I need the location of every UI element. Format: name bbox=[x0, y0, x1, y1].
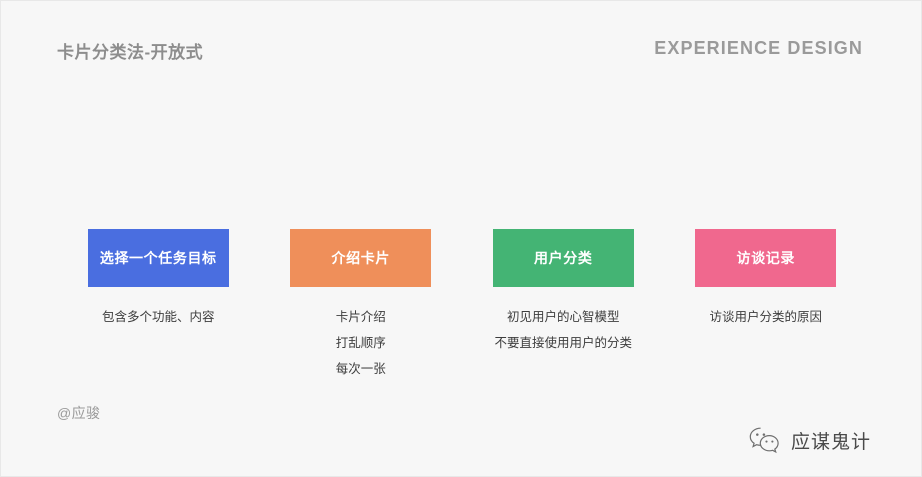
wechat-account-name: 应谋鬼计 bbox=[791, 427, 871, 454]
step-notes-1: 包含多个功能、内容 bbox=[102, 304, 215, 330]
step-item: 访谈记录 访谈用户分类的原因 bbox=[665, 229, 868, 330]
wechat-badge: 应谋鬼计 bbox=[748, 426, 871, 454]
slide-canvas: 卡片分类法-开放式 EXPERIENCE DESIGN 选择一个任务目标 包含多… bbox=[0, 0, 922, 477]
page-title: 卡片分类法-开放式 bbox=[57, 38, 203, 63]
step-note: 不要直接使用用户的分类 bbox=[494, 330, 632, 356]
step-notes-3: 初见用户的心智模型 不要直接使用用户的分类 bbox=[494, 304, 632, 356]
step-item: 用户分类 初见用户的心智模型 不要直接使用用户的分类 bbox=[462, 229, 665, 356]
step-notes-4: 访谈用户分类的原因 bbox=[709, 304, 822, 330]
step-card-label: 介绍卡片 bbox=[332, 248, 390, 268]
step-item: 选择一个任务目标 包含多个功能、内容 bbox=[57, 229, 260, 330]
step-note: 访谈用户分类的原因 bbox=[709, 304, 822, 330]
step-card-label: 选择一个任务目标 bbox=[100, 248, 217, 268]
step-note: 初见用户的心智模型 bbox=[507, 304, 620, 330]
step-card-1[interactable]: 选择一个任务目标 bbox=[88, 229, 229, 287]
step-note: 包含多个功能、内容 bbox=[102, 304, 215, 330]
wechat-icon bbox=[748, 426, 782, 454]
author-tag: @应骏 bbox=[57, 403, 100, 423]
brand-label: EXPERIENCE DESIGN bbox=[654, 38, 863, 59]
step-card-label: 用户分类 bbox=[534, 248, 592, 268]
step-note: 每次一张 bbox=[336, 356, 386, 382]
step-notes-2: 卡片介绍 打乱顺序 每次一张 bbox=[336, 304, 386, 382]
step-note: 打乱顺序 bbox=[336, 330, 386, 356]
step-card-4[interactable]: 访谈记录 bbox=[695, 229, 836, 287]
step-card-label: 访谈记录 bbox=[737, 248, 795, 268]
step-card-3[interactable]: 用户分类 bbox=[493, 229, 634, 287]
step-card-2[interactable]: 介绍卡片 bbox=[290, 229, 431, 287]
step-note: 卡片介绍 bbox=[336, 304, 386, 330]
step-list: 选择一个任务目标 包含多个功能、内容 介绍卡片 卡片介绍 打乱顺序 每次一张 用… bbox=[57, 229, 867, 382]
step-item: 介绍卡片 卡片介绍 打乱顺序 每次一张 bbox=[260, 229, 463, 382]
